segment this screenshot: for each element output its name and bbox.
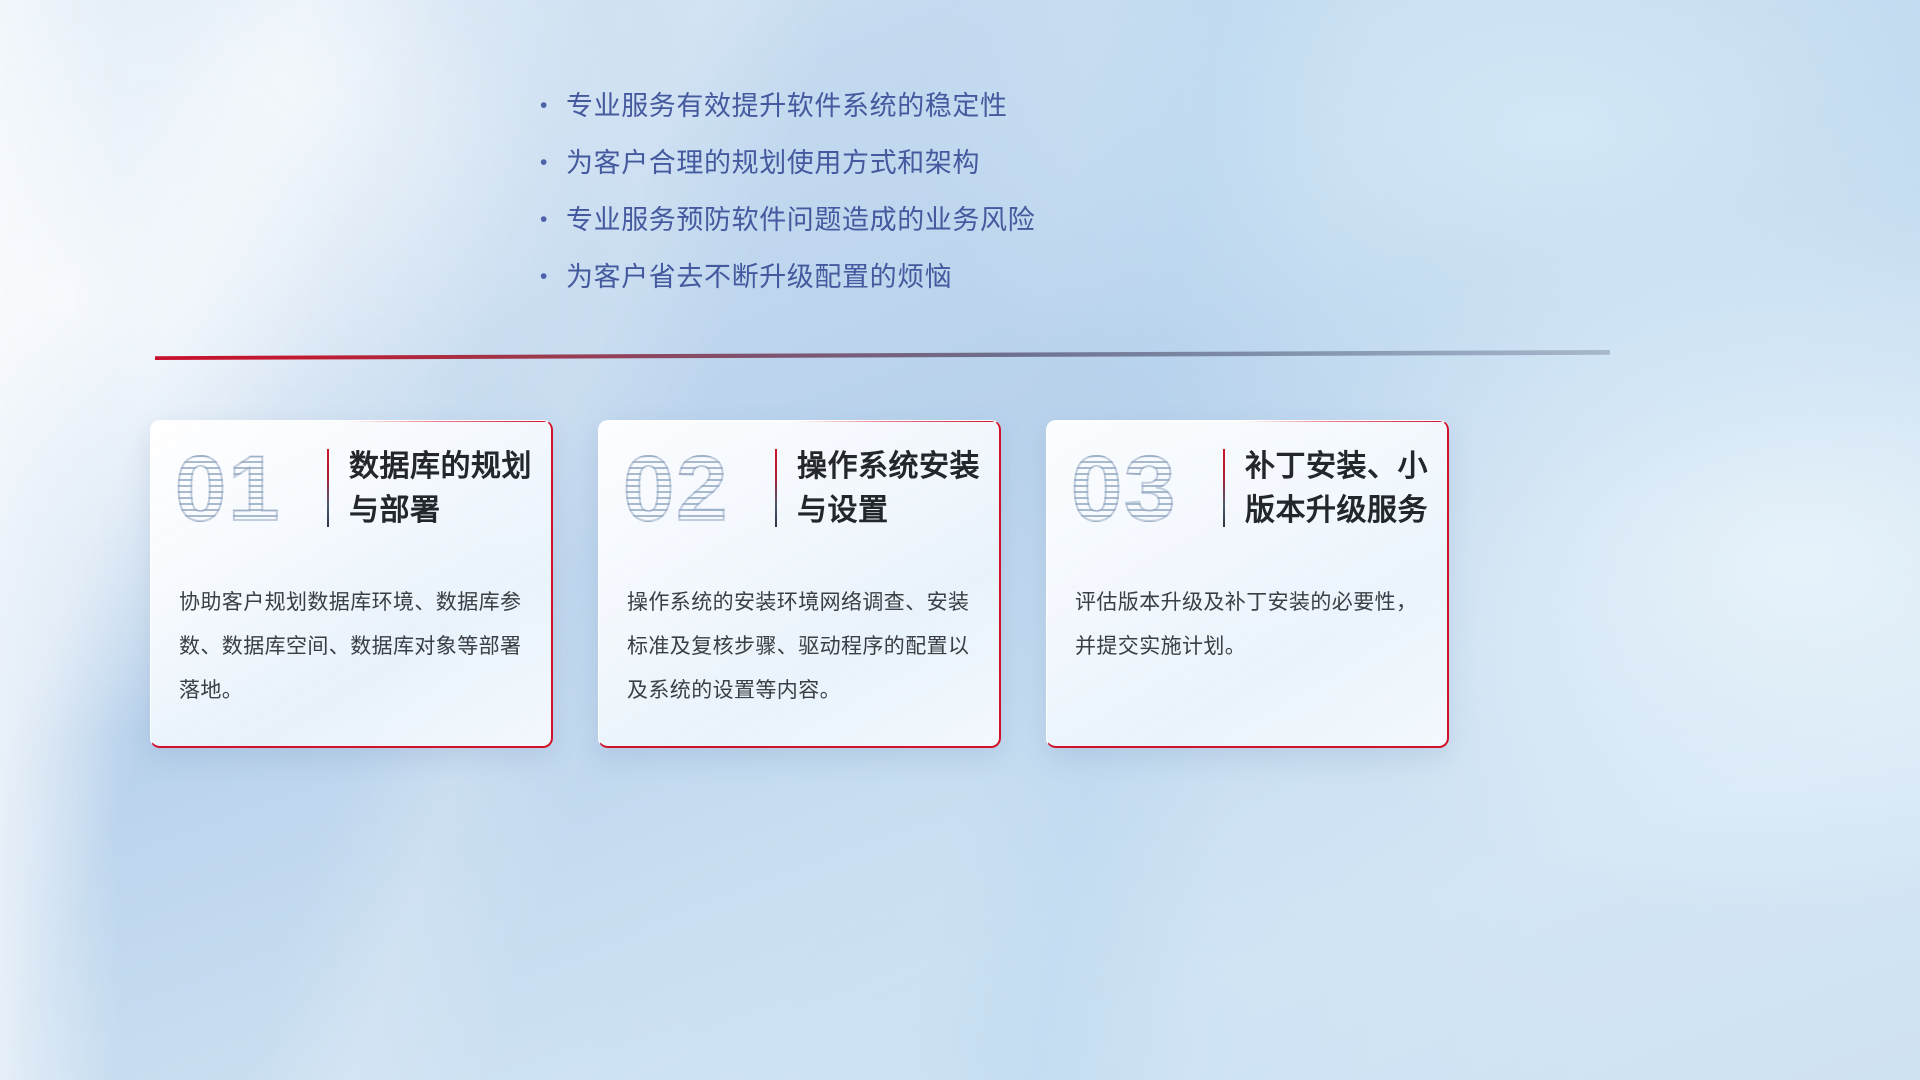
card-title: 补丁安装、小版本升级服务 (1245, 445, 1429, 533)
card-title-wrap: 补丁安装、小版本升级服务 (1223, 445, 1429, 533)
card-body-text: 协助客户规划数据库环境、数据库参数、数据库空间、数据库对象等部署落地。 (179, 581, 527, 713)
card-header: 03 补丁安装、小版本升级服务 (1047, 421, 1447, 549)
card-title-wrap: 操作系统安装与设置 (775, 445, 981, 533)
service-card-row: 01 数据库的规划与部署 协助客户规划数据库环境、数据库参数、数据库空间、数据库… (0, 420, 1920, 760)
card-body-text: 操作系统的安装环境网络调查、安装标准及复核步骤、驱动程序的配置以及系统的设置等内… (627, 581, 975, 713)
service-card-03[interactable]: 03 补丁安装、小版本升级服务 评估版本升级及补丁安装的必要性，并提交实施计划。 (1046, 420, 1449, 748)
title-accent-rule (775, 449, 777, 527)
bullet-text-3: 专业服务预防软件问题造成的业务风险 (566, 202, 1035, 238)
card-title-wrap: 数据库的规划与部署 (327, 445, 533, 533)
card-number-watermark: 03 (1071, 443, 1177, 535)
title-accent-rule (327, 449, 329, 527)
title-accent-rule (1223, 449, 1225, 527)
bullet-marker-icon: • (540, 88, 566, 124)
card-body-text: 评估版本升级及补丁安装的必要性，并提交实施计划。 (1075, 581, 1423, 669)
section-divider (155, 350, 1610, 360)
list-item: • 为客户合理的规划使用方式和架构 (540, 145, 1240, 181)
bullet-text-4: 为客户省去不断升级配置的烦恼 (566, 259, 952, 295)
list-item: • 专业服务预防软件问题造成的业务风险 (540, 202, 1240, 238)
divider-bar (155, 350, 1610, 360)
bullet-text-2: 为客户合理的规划使用方式和架构 (566, 145, 980, 181)
card-header: 01 数据库的规划与部署 (151, 421, 551, 549)
slide-canvas: • 专业服务有效提升软件系统的稳定性 • 为客户合理的规划使用方式和架构 • 专… (0, 0, 1920, 1080)
card-header: 02 操作系统安装与设置 (599, 421, 999, 549)
service-card-01[interactable]: 01 数据库的规划与部署 协助客户规划数据库环境、数据库参数、数据库空间、数据库… (150, 420, 553, 748)
card-number-watermark: 01 (175, 443, 281, 535)
bullet-marker-icon: • (540, 259, 566, 295)
list-item: • 专业服务有效提升软件系统的稳定性 (540, 88, 1240, 124)
service-card-02[interactable]: 02 操作系统安装与设置 操作系统的安装环境网络调查、安装标准及复核步骤、驱动程… (598, 420, 1001, 748)
bullet-marker-icon: • (540, 145, 566, 181)
card-title: 操作系统安装与设置 (797, 445, 981, 533)
card-title: 数据库的规划与部署 (349, 445, 533, 533)
card-number-watermark: 02 (623, 443, 729, 535)
bullet-text-1: 专业服务有效提升软件系统的稳定性 (566, 88, 1008, 124)
list-item: • 为客户省去不断升级配置的烦恼 (540, 259, 1240, 295)
bullet-marker-icon: • (540, 202, 566, 238)
benefits-bullet-list: • 专业服务有效提升软件系统的稳定性 • 为客户合理的规划使用方式和架构 • 专… (540, 88, 1240, 316)
